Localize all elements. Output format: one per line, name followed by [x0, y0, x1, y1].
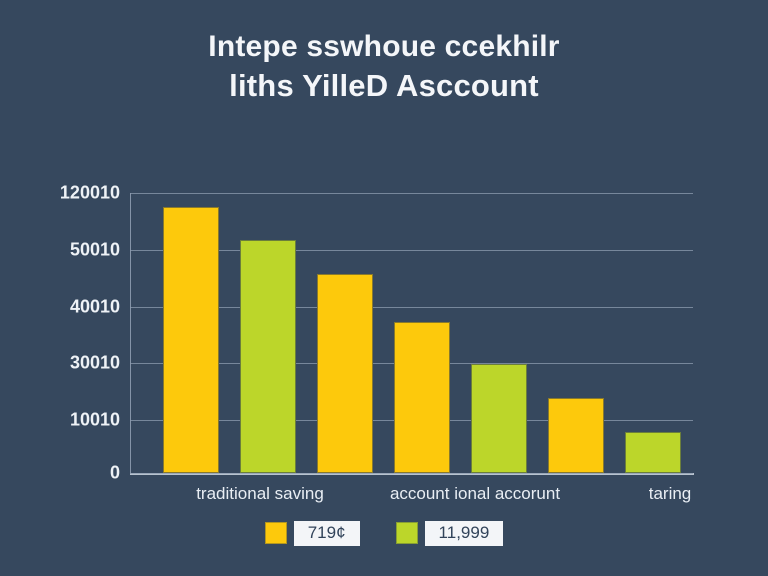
y-axis-tick-label: 50010 [70, 240, 130, 261]
bar-1 [163, 207, 219, 473]
y-axis-tick-label: 30010 [70, 353, 130, 374]
y-axis-tick-label: 10010 [70, 410, 130, 431]
bar-6 [548, 398, 604, 473]
bar-2 [240, 240, 296, 473]
bar-7 [625, 432, 681, 473]
bar-3 [317, 274, 373, 473]
y-axis-tick-label: 40010 [70, 297, 130, 318]
y-axis-tick-label: 120010 [60, 183, 130, 204]
gridline [130, 473, 693, 474]
legend-label: 719¢ [294, 521, 360, 546]
x-axis-labels: traditional savingaccount ional accorunt… [130, 484, 694, 508]
legend-item: 719¢ [265, 521, 360, 546]
legend-label: 11,999 [425, 521, 504, 546]
legend-item: 11,999 [396, 521, 504, 546]
bar-5 [471, 364, 527, 473]
plot-wrap: 120010500104001030010100100 traditional … [0, 0, 768, 576]
x-axis-tick-label: taring [649, 484, 692, 504]
bars-layer [130, 193, 694, 473]
legend-swatch-green [396, 522, 418, 544]
legend-swatch-yellow [265, 522, 287, 544]
x-axis-tick-label: account ional accorunt [390, 484, 560, 504]
bar-chart-card: Intepe sswhoue ccekhilr liths YilleD Asc… [0, 0, 768, 576]
x-axis-tick-label: traditional saving [196, 484, 324, 504]
chart-legend: 719¢11,999 [0, 521, 768, 546]
bar-4 [394, 322, 450, 473]
y-axis-tick-label: 0 [110, 463, 130, 484]
